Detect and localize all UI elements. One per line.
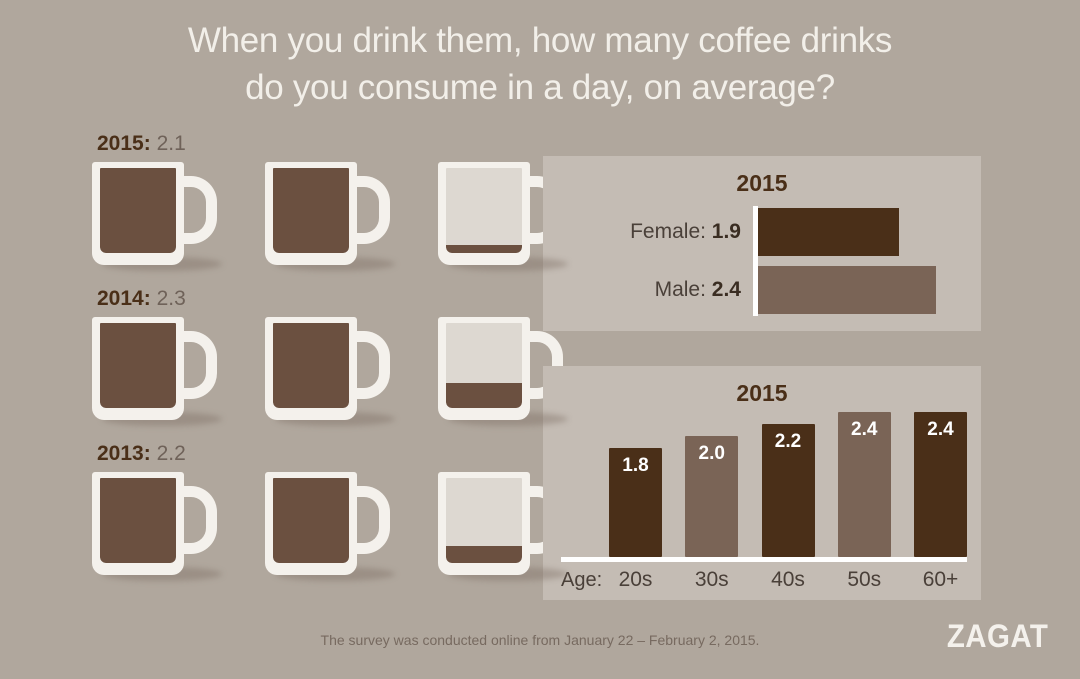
mug-body: [265, 162, 357, 265]
age-column: 2.4: [838, 412, 891, 557]
age-bar-value: 2.0: [685, 443, 738, 465]
mug-pictograph-chart: 2015: 2.1: [0, 132, 540, 622]
age-bar-30s: 2.0: [685, 436, 738, 557]
zagat-logo: ZAGAT: [946, 618, 1048, 655]
mug-interior: [100, 168, 176, 253]
mug-interior: [100, 478, 176, 563]
mug-row-value: 2.2: [157, 442, 186, 465]
mug-body: [265, 472, 357, 575]
gender-bar-row-male: Male: 2.4: [543, 266, 981, 314]
mug-group: [92, 472, 563, 575]
mug-body: [92, 472, 184, 575]
mug-interior: [273, 478, 349, 563]
mug-row-2015: 2015: 2.1: [0, 132, 540, 287]
coffee-mug-icon: [92, 317, 217, 420]
mug-coffee-fill: [446, 383, 522, 409]
age-chart-panel: 2015 1.8 2.0 2.2 2.4: [543, 366, 981, 600]
age-tick-50s: 50s: [838, 568, 891, 592]
mug-row-label: 2013: 2.2: [97, 442, 186, 466]
age-chart-tick-labels: Age: 20s 30s 40s 50s 60+: [561, 564, 967, 596]
age-column: 1.8: [609, 448, 662, 557]
mug-coffee-fill: [273, 323, 349, 408]
age-tick-30s: 30s: [685, 568, 738, 592]
mug-interior: [446, 478, 522, 563]
gender-bar-label: Female: 1.9: [630, 220, 741, 244]
gender-chart-axis-line: [753, 206, 758, 316]
coffee-mug-icon: [265, 317, 390, 420]
age-column: 2.0: [685, 436, 738, 557]
mug-row-year: 2013:: [97, 442, 151, 465]
gender-bar-row-female: Female: 1.9: [543, 208, 981, 256]
mug-row-year: 2015:: [97, 132, 151, 155]
age-bar-group: 1.8 2.0 2.2 2.4 2.4: [609, 412, 967, 557]
age-bar-value: 2.2: [762, 431, 815, 453]
mug-coffee-fill: [446, 245, 522, 254]
mug-row-year: 2014:: [97, 287, 151, 310]
mug-body: [92, 162, 184, 265]
mug-group: [92, 317, 563, 420]
mug-row-label: 2014: 2.3: [97, 287, 186, 311]
gender-label-text: Female:: [630, 220, 706, 243]
age-bar-value: 2.4: [838, 419, 891, 441]
mug-coffee-fill: [273, 168, 349, 253]
age-bar-40s: 2.2: [762, 424, 815, 557]
gender-bar-female: [756, 208, 899, 256]
age-column: 2.2: [762, 424, 815, 557]
mug-row-value: 2.1: [157, 132, 186, 155]
age-tick-40s: 40s: [762, 568, 815, 592]
coffee-mug-icon: [265, 472, 390, 575]
page-title-line-1: When you drink them, how many coffee dri…: [0, 18, 1080, 65]
mug-interior: [446, 323, 522, 408]
age-bar-value: 1.8: [609, 455, 662, 477]
age-tick-group: 20s 30s 40s 50s 60+: [609, 568, 967, 592]
gender-label-value: 1.9: [712, 220, 741, 243]
gender-bar-male: [756, 266, 936, 314]
coffee-mug-icon: [92, 472, 217, 575]
age-bar-50s: 2.4: [838, 412, 891, 557]
mug-coffee-fill: [273, 478, 349, 563]
mug-group: [92, 162, 563, 265]
mug-coffee-fill: [100, 323, 176, 408]
mug-coffee-fill: [100, 168, 176, 253]
mug-row-value: 2.3: [157, 287, 186, 310]
age-chart-plot: 1.8 2.0 2.2 2.4 2.4: [561, 412, 967, 557]
gender-chart-panel: 2015 Female: 1.9 Male: 2.4: [543, 156, 981, 331]
age-tick-60plus: 60+: [914, 568, 967, 592]
age-bar-60plus: 2.4: [914, 412, 967, 557]
age-bar-value: 2.4: [914, 419, 967, 441]
age-chart-baseline: [561, 557, 967, 562]
page-title-line-2: do you consume in a day, on average?: [0, 65, 1080, 112]
mug-interior: [273, 323, 349, 408]
age-tick-20s: 20s: [609, 568, 662, 592]
mug-body: [92, 317, 184, 420]
mug-row-2013: 2013: 2.2: [0, 442, 540, 597]
gender-bar-label: Male: 2.4: [655, 278, 741, 302]
age-column: 2.4: [914, 412, 967, 557]
gender-label-value: 2.4: [712, 278, 741, 301]
mug-body: [438, 162, 530, 265]
page-title: When you drink them, how many coffee dri…: [0, 18, 1080, 111]
mug-body: [438, 472, 530, 575]
gender-label-text: Male:: [655, 278, 706, 301]
coffee-mug-icon: [92, 162, 217, 265]
mug-body: [265, 317, 357, 420]
coffee-mug-icon: [265, 162, 390, 265]
age-chart-title: 2015: [543, 380, 981, 407]
mug-interior: [273, 168, 349, 253]
mug-row-label: 2015: 2.1: [97, 132, 186, 156]
survey-footnote: The survey was conducted online from Jan…: [0, 632, 1080, 648]
mug-coffee-fill: [100, 478, 176, 563]
age-axis-label: Age:: [561, 569, 609, 592]
age-bar-20s: 1.8: [609, 448, 662, 557]
gender-chart-title: 2015: [543, 170, 981, 197]
mug-coffee-fill: [446, 546, 522, 563]
mug-interior: [446, 168, 522, 253]
mug-interior: [100, 323, 176, 408]
mug-body: [438, 317, 530, 420]
mug-row-2014: 2014: 2.3: [0, 287, 540, 442]
